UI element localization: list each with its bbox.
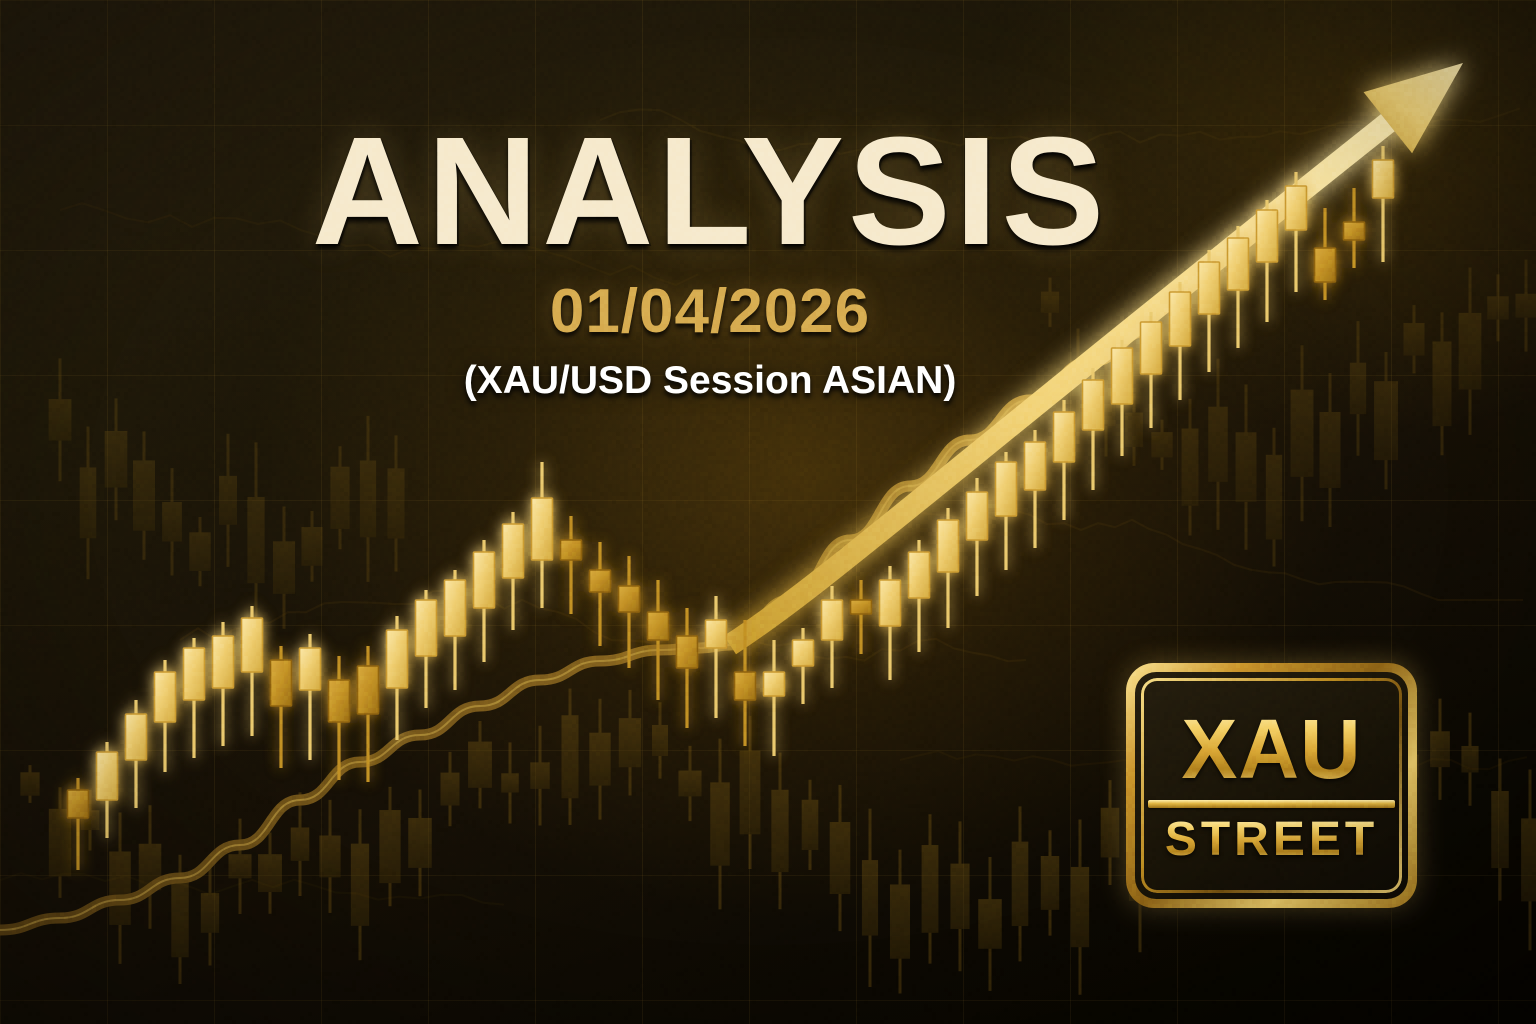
analysis-date: 01/04/2026	[0, 276, 1420, 347]
logo-divider	[1148, 800, 1395, 808]
xau-street-logo[interactable]: XAU STREET	[1126, 663, 1417, 908]
page-title: ANALYSIS	[0, 118, 1420, 266]
banner-canvas: ANALYSIS 01/04/2026 (XAU/USD Session ASI…	[0, 0, 1536, 1024]
logo-primary-text: XAU	[1181, 707, 1361, 791]
session-subtitle: (XAU/USD Session ASIAN)	[0, 359, 1420, 403]
logo-secondary-text: STREET	[1165, 816, 1378, 864]
headline-block: ANALYSIS 01/04/2026 (XAU/USD Session ASI…	[0, 118, 1420, 403]
logo-content: XAU STREET	[1148, 683, 1395, 888]
moving-average-line	[0, 330, 1150, 930]
